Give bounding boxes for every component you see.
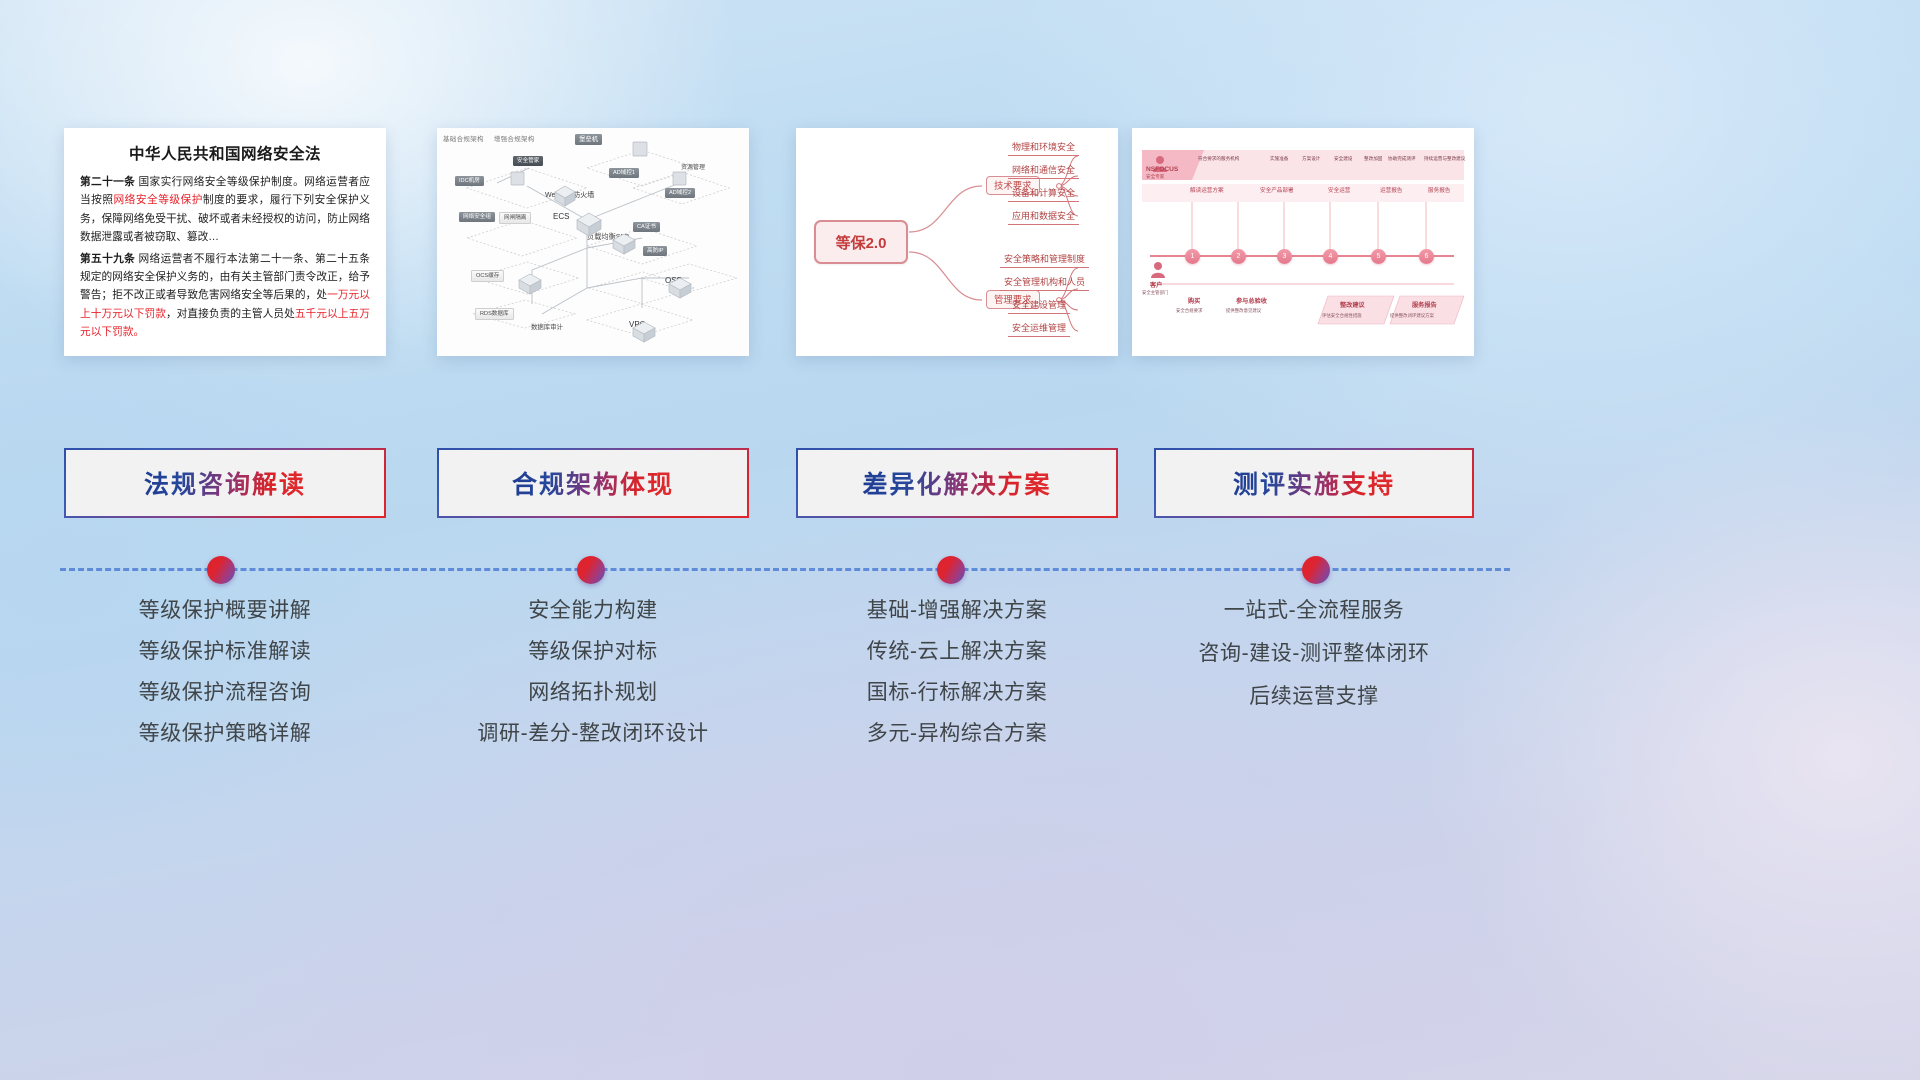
- list-item: 网络拓扑规划: [437, 682, 749, 703]
- list-item: 传统-云上解决方案: [796, 641, 1118, 662]
- detail-lists: 等级保护概要讲解 等级保护标准解读 等级保护流程咨询 等级保护策略详解 安全能力…: [0, 600, 1570, 820]
- nsfocus-top-tag-6: 持续运营与整改建议: [1424, 156, 1465, 161]
- list-item: 一站式-全流程服务: [1154, 600, 1474, 621]
- arch-chip-gateway-isolation: 网闸隔离: [499, 212, 531, 224]
- mindmap: 等保2.0 技术要求 管理要求 物理和环境安全 网络和通信安全 设备和计算安全 …: [796, 128, 1118, 356]
- nsfocus-step-5: 5: [1371, 249, 1386, 264]
- nsfocus-stage-1: 安全产品部署: [1260, 188, 1294, 194]
- nsfocus-stage-0: 解读运营方案: [1190, 188, 1224, 194]
- nsfocus-role-0-sub: 安全合规要求: [1176, 308, 1202, 314]
- nsfocus-role-1: 参与总验收: [1236, 296, 1267, 305]
- list-item: 调研-差分-整改闭环设计: [437, 723, 749, 744]
- nsfocus-step-1: 1: [1185, 249, 1200, 264]
- list-item: 后续运营支撑: [1154, 686, 1474, 707]
- arch-chip-anti-ddos-ip: 高防IP: [643, 246, 667, 256]
- list-item: 咨询-建设-测评整体闭环: [1154, 643, 1474, 664]
- list-item: 等级保护概要讲解: [64, 600, 386, 621]
- detail-column-1: 等级保护概要讲解 等级保护标准解读 等级保护流程咨询 等级保护策略详解: [64, 600, 386, 764]
- mindmap-leaf-device-compute: 设备和计算安全: [1008, 189, 1079, 202]
- arch-label-vpc: VPC: [629, 320, 645, 329]
- article-59-label: 第五十九条: [80, 253, 135, 265]
- card-cybersecurity-law[interactable]: 中华人民共和国网络安全法 第二十一条 国家实行网络安全等级保护制度。网络运营者应…: [64, 128, 386, 356]
- list-item: 基础-增强解决方案: [796, 600, 1118, 621]
- arch-label-slb: 负载均衡SLB: [587, 232, 629, 242]
- nsfocus-brand-sub: 安全专家: [1146, 174, 1164, 179]
- list-item: 国标-行标解决方案: [796, 682, 1118, 703]
- law-document: 中华人民共和国网络安全法 第二十一条 国家实行网络安全等级保护制度。网络运营者应…: [64, 128, 386, 356]
- banner-assessment-support[interactable]: 测评实施支持: [1154, 448, 1474, 518]
- mindmap-leaf-policy-system: 安全策略和管理制度: [1000, 255, 1089, 268]
- nsfocus-stage-2: 安全运营: [1328, 188, 1350, 194]
- nsfocus-flow: NSFOCUS 安全专家 符合要求的服务机构 实施准备 方案设计 安全建设 整改…: [1132, 128, 1474, 356]
- detail-column-3: 基础-增强解决方案 传统-云上解决方案 国标-行标解决方案 多元-异构综合方案: [796, 600, 1118, 764]
- nsfocus-step-6: 6: [1419, 249, 1434, 264]
- list-item: 多元-异构综合方案: [796, 723, 1118, 744]
- nsfocus-brand: NSFOCUS: [1146, 166, 1178, 173]
- banner-regulation-consulting[interactable]: 法规咨询解读: [64, 448, 386, 518]
- arch-chip-ad1: AD域控1: [609, 168, 639, 178]
- nsfocus-top-tag-1: 实施准备: [1270, 156, 1288, 161]
- banner-label-1: 合规架构体现: [512, 465, 674, 501]
- nsfocus-bottom-box-1-sub: 提供整改闭环建议方案: [1390, 313, 1434, 319]
- article-59-text-b: ，对直接负责的主管人员处: [166, 308, 295, 320]
- arch-label-resource-mgmt: 资源管理: [681, 162, 705, 171]
- law-article-59: 第五十九条 网络运营者不履行本法第二十一条、第二十五条规定的网络安全保护义务的，…: [80, 250, 370, 342]
- arch-chip-ad2: AD域控2: [665, 188, 695, 198]
- card-nsfocus-service-flow[interactable]: NSFOCUS 安全专家 符合要求的服务机构 实施准备 方案设计 安全建设 整改…: [1132, 128, 1474, 356]
- reference-cards-row: 中华人民共和国网络安全法 第二十一条 国家实行网络安全等级保护制度。网络运营者应…: [0, 0, 1570, 400]
- timeline-dot-3[interactable]: [937, 556, 965, 584]
- nsfocus-stage-3: 运营报告: [1380, 188, 1402, 194]
- banner-label-2: 差异化解决方案: [862, 465, 1051, 501]
- banner-compliance-architecture[interactable]: 合规架构体现: [437, 448, 749, 518]
- list-item: 安全能力构建: [437, 600, 749, 621]
- law-title: 中华人民共和国网络安全法: [80, 142, 370, 164]
- arch-chip-bastion: 堡垒机: [575, 134, 602, 145]
- nsfocus-step-2: 2: [1231, 249, 1246, 264]
- slide-stage: 中华人民共和国网络安全法 第二十一条 国家实行网络安全等级保护制度。网络运营者应…: [0, 0, 1570, 880]
- arch-chip-rds: RDS数据库: [475, 308, 514, 320]
- mindmap-leaf-ops-mgmt: 安全运维管理: [1008, 324, 1070, 337]
- card-mindmap-dengbao[interactable]: 等保2.0 技术要求 管理要求 物理和环境安全 网络和通信安全 设备和计算安全 …: [796, 128, 1118, 356]
- architecture-diagram: 基础合规架构增强合规架构: [437, 128, 749, 356]
- nsfocus-graphics: [1132, 128, 1474, 356]
- arch-chip-security-mgr: 安全管家: [513, 156, 543, 166]
- arch-label-oss: OSS: [665, 276, 682, 285]
- banner-label-3: 测评实施支持: [1233, 465, 1395, 501]
- arch-chip-netsec-group: 网络安全组: [459, 212, 495, 222]
- timeline-dashed-line: [60, 568, 1510, 571]
- nsfocus-top-tag-0: 符合要求的服务机构: [1198, 156, 1239, 161]
- nsfocus-top-tag-3: 安全建设: [1334, 156, 1352, 161]
- mindmap-leaf-construction-mgmt: 安全建设管理: [1008, 301, 1070, 314]
- banner-label-0: 法规咨询解读: [144, 465, 306, 501]
- nsfocus-stage-4: 服务报告: [1428, 188, 1450, 194]
- timeline: [0, 546, 1570, 606]
- nsfocus-step-4: 4: [1323, 249, 1338, 264]
- banner-differentiated-solution[interactable]: 差异化解决方案: [796, 448, 1118, 518]
- nsfocus-left-role: 客户: [1150, 280, 1162, 289]
- timeline-dot-1[interactable]: [207, 556, 235, 584]
- list-item: 等级保护标准解读: [64, 641, 386, 662]
- arch-chip-idc: IDC机房: [455, 176, 484, 186]
- arch-label-db-audit: 数据库审计: [531, 322, 563, 331]
- nsfocus-bottom-box-1: 服务报告: [1412, 300, 1437, 309]
- timeline-dot-2[interactable]: [577, 556, 605, 584]
- nsfocus-top-tag-5: 协助完成测评: [1388, 156, 1416, 161]
- arch-chip-ocs-cache: OCS缓存: [471, 270, 504, 282]
- mindmap-root-node: 等保2.0: [814, 220, 908, 264]
- arch-chip-ca-cert: CA证书: [633, 222, 660, 232]
- mindmap-leaf-app-data: 应用和数据安全: [1008, 212, 1079, 225]
- list-item: 等级保护对标: [437, 641, 749, 662]
- list-item: 等级保护策略详解: [64, 723, 386, 744]
- nsfocus-role-1-sub: 提供整改意见建议: [1226, 308, 1261, 314]
- nsfocus-top-tag-2: 方案设计: [1302, 156, 1320, 161]
- nsfocus-role-0: 购买: [1188, 296, 1200, 305]
- mindmap-leaf-org-personnel: 安全管理机构和人员: [1000, 278, 1089, 291]
- nsfocus-bottom-box-0: 整改建议: [1340, 300, 1365, 309]
- nsfocus-top-tag-4: 整改加固: [1364, 156, 1382, 161]
- card-compliance-architecture[interactable]: 基础合规架构增强合规架构: [437, 128, 749, 356]
- list-item: 等级保护流程咨询: [64, 682, 386, 703]
- article-21-label: 第二十一条: [80, 176, 135, 188]
- article-21-highlight: 网络安全等级保护: [114, 194, 203, 206]
- timeline-dot-4[interactable]: [1302, 556, 1330, 584]
- mindmap-leaf-physical-env: 物理和环境安全: [1008, 143, 1079, 156]
- nsfocus-bottom-box-0-sub: 评估安全合规性措施: [1322, 313, 1362, 319]
- detail-column-2: 安全能力构建 等级保护对标 网络拓扑规划 调研-差分-整改闭环设计: [437, 600, 749, 764]
- arch-label-waf: Web应用防火墙: [545, 190, 594, 200]
- nsfocus-left-role-sub: 安全主管部门: [1142, 290, 1168, 296]
- nsfocus-step-3: 3: [1277, 249, 1292, 264]
- arch-label-ecs: ECS: [553, 212, 569, 221]
- law-article-21: 第二十一条 国家实行网络安全等级保护制度。网络运营者应当按照网络安全等级保护制度…: [80, 173, 370, 247]
- banner-row: 法规咨询解读 合规架构体现 差异化解决方案 测评实施支持: [0, 448, 1570, 520]
- mindmap-leaf-network-comm: 网络和通信安全: [1008, 166, 1079, 179]
- detail-column-4: 一站式-全流程服务 咨询-建设-测评整体闭环 后续运营支撑: [1154, 600, 1474, 729]
